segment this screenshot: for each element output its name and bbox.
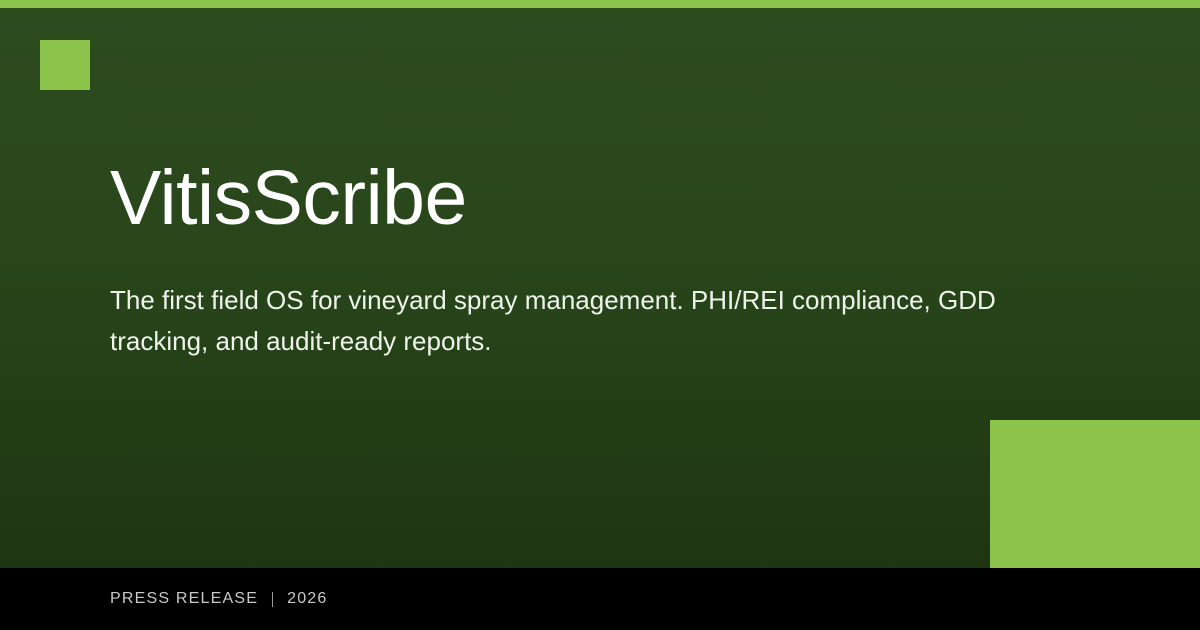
top-accent-bar	[0, 0, 1200, 8]
footer-content: PRESS RELEASE 2026	[110, 568, 328, 630]
footer-label: PRESS RELEASE	[110, 590, 258, 608]
footer-bar: PRESS RELEASE 2026	[0, 568, 1200, 630]
square-logo-mark	[40, 40, 90, 90]
slide-subtitle: The first field OS for vineyard spray ma…	[110, 237, 1020, 362]
slide-content: VitisScribe The first field OS for viney…	[110, 160, 1070, 362]
page-title: VitisScribe	[110, 160, 1070, 237]
title-slide: VitisScribe The first field OS for viney…	[0, 0, 1200, 630]
footer-year: 2026	[287, 590, 327, 608]
footer-separator-icon	[272, 592, 273, 607]
corner-accent-block	[990, 420, 1200, 568]
